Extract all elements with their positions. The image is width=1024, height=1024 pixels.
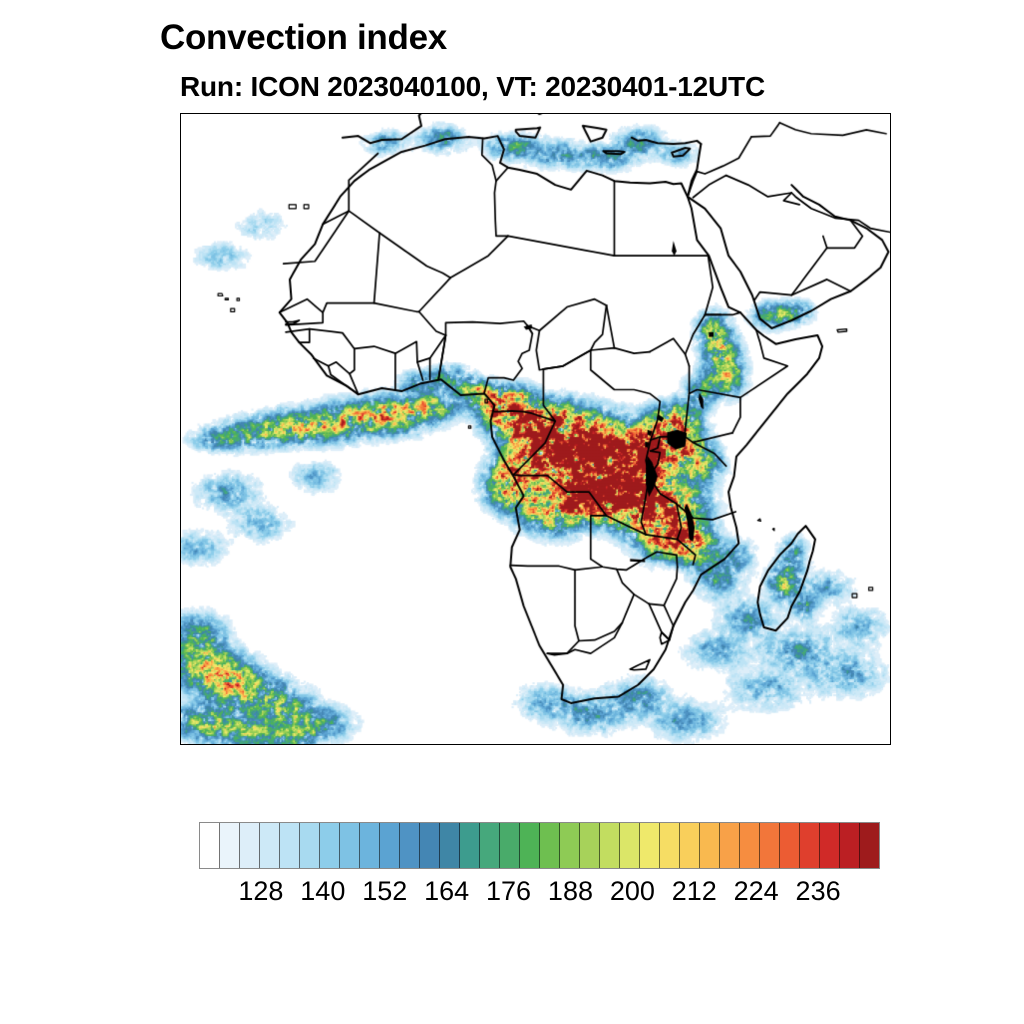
figure: Convection index Run: ICON 2023040100, V…	[0, 0, 1024, 1024]
colorbar-cell	[720, 823, 740, 868]
colorbar-cell	[700, 823, 720, 868]
colorbar-cell	[620, 823, 640, 868]
colorbar-cell	[480, 823, 500, 868]
colorbar-cell	[660, 823, 680, 868]
colorbar-cell	[800, 823, 820, 868]
colorbar-tick-label: 140	[300, 876, 345, 907]
y-axis-major-tick	[180, 193, 181, 195]
colorbar-cell	[460, 823, 480, 868]
y-axis-minor-tick	[180, 312, 181, 313]
colorbar-cell	[740, 823, 760, 868]
colorbar-cell	[520, 823, 540, 868]
colorbar-cell	[400, 823, 420, 868]
colorbar-tick-label: 176	[486, 876, 531, 907]
colorbar-tick-labels: 128140152164176188200212224236	[199, 876, 880, 916]
chart-subtitle: Run: ICON 2023040100, VT: 20230401-12UTC	[180, 70, 1000, 104]
colorbar-cell	[200, 823, 220, 868]
colorbar-tick-label: 224	[734, 876, 779, 907]
colorbar-tick-label: 128	[238, 876, 283, 907]
colorbar-tick-label: 236	[796, 876, 841, 907]
colorbar-cell	[680, 823, 700, 868]
colorbar-tick-label: 164	[424, 876, 469, 907]
colorbar	[199, 822, 880, 869]
colorbar-cell	[380, 823, 400, 868]
colorbar-tick-label: 188	[548, 876, 593, 907]
colorbar-cell	[780, 823, 800, 868]
convection-index-map	[181, 114, 890, 744]
colorbar-cell	[240, 823, 260, 868]
colorbar-cell	[540, 823, 560, 868]
colorbar-tick-label: 152	[362, 876, 407, 907]
colorbar-cell	[320, 823, 340, 868]
colorbar-cell	[500, 823, 520, 868]
colorbar-cell	[300, 823, 320, 868]
y-axis-major-tick	[180, 430, 181, 432]
colorbar-cell	[280, 823, 300, 868]
chart-title: Convection index	[160, 18, 960, 58]
colorbar-cell	[440, 823, 460, 868]
colorbar-cell	[840, 823, 860, 868]
colorbar-cell	[640, 823, 660, 868]
colorbar-cell	[760, 823, 780, 868]
colorbar-cell	[560, 823, 580, 868]
colorbar-tick-label: 212	[672, 876, 717, 907]
y-axis-major-tick	[180, 667, 181, 669]
y-axis-minor-tick	[180, 549, 181, 550]
colorbar-cell	[260, 823, 280, 868]
colorbar-cell	[820, 823, 840, 868]
colorbar-cell	[420, 823, 440, 868]
colorbar-cell	[860, 823, 879, 868]
colorbar-cell	[580, 823, 600, 868]
map-plot-area: 30N030S30W030E60E	[180, 113, 891, 745]
colorbar-cell	[360, 823, 380, 868]
colorbar-cell	[600, 823, 620, 868]
colorbar-cell	[340, 823, 360, 868]
colorbar-tick-label: 200	[610, 876, 655, 907]
colorbar-cell	[220, 823, 240, 868]
